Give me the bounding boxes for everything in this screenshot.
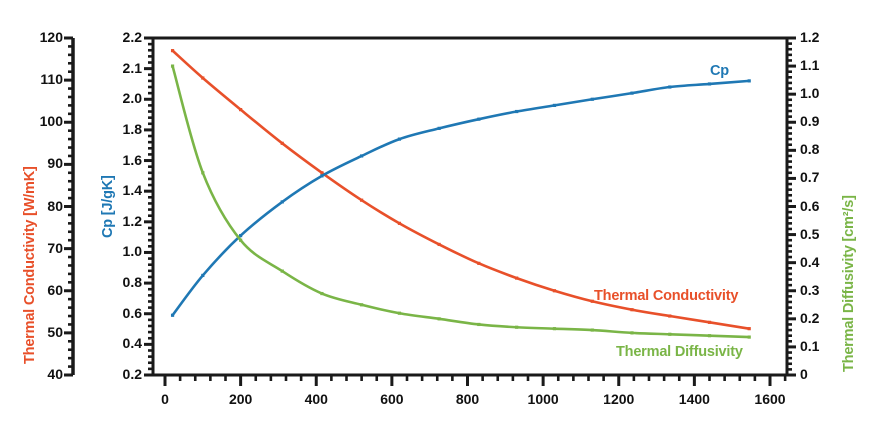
axis-tick-label: 50 — [7, 324, 63, 340]
axis-tick-label: 0.1 — [800, 338, 840, 354]
series-annotation-thermal-conductivity: Thermal Conductivity — [594, 288, 738, 304]
axis-tick-label: 400 — [286, 391, 346, 407]
axis-tick-label: 1.1 — [800, 57, 840, 73]
axis-tick-label: 80 — [7, 198, 63, 214]
axis-tick-label: 800 — [438, 391, 498, 407]
axis-tick-label: 1.0 — [86, 243, 142, 259]
axis-tick-label: 1000 — [513, 391, 573, 407]
axis-tick-label: 0.2 — [86, 366, 142, 382]
axis-tick-label: 0.7 — [800, 169, 840, 185]
axis-tick-label: 0.5 — [800, 226, 840, 242]
axis-tick-label: 0.8 — [86, 274, 142, 290]
axis-tick-label: 40 — [7, 366, 63, 382]
axis-tick-label: 0 — [800, 366, 840, 382]
axis-tick-label: 1600 — [740, 391, 800, 407]
axis-tick-label: 1200 — [589, 391, 649, 407]
axis-tick-label: 0.4 — [86, 335, 142, 351]
axis-tick-label: 110 — [7, 71, 63, 87]
axis-tick-label: 0.8 — [800, 141, 840, 157]
series-cp — [171, 79, 751, 317]
series-annotation-thermal-diffusivity: Thermal Diffusivity — [616, 344, 743, 360]
axis-tick-label: 1.0 — [800, 85, 840, 101]
axis-tick-label: 0.6 — [800, 198, 840, 214]
axis-tick-label: 0.2 — [800, 310, 840, 326]
axis-tick-label: 1.2 — [86, 213, 142, 229]
axis-tick-label: 200 — [211, 391, 271, 407]
axis-tick-label: 0 — [135, 391, 195, 407]
axis-tick-label: 1.2 — [800, 29, 840, 45]
axis-tick-label: 100 — [7, 113, 63, 129]
axis-tick-label: 600 — [362, 391, 422, 407]
axis-tick-label: 1400 — [664, 391, 724, 407]
axis-tick-label: 2.0 — [86, 90, 142, 106]
axis-tick-label: 0.6 — [86, 305, 142, 321]
axis-tick-label: 1.8 — [86, 121, 142, 137]
axis-tick-label: 0.3 — [800, 282, 840, 298]
chart-figure: Thermal Conductivity [W/mK] Cp [J/gK] Th… — [0, 0, 891, 429]
series-annotation-cp: Cp — [710, 63, 729, 79]
axis-tick-label: 1.6 — [86, 152, 142, 168]
axis-tick-label: 2.2 — [86, 29, 142, 45]
axis-tick-label: 1.4 — [86, 182, 142, 198]
axis-tick-label: 90 — [7, 155, 63, 171]
axis-tick-label: 0.4 — [800, 254, 840, 270]
axis-tick-label: 0.9 — [800, 113, 840, 129]
axis-tick-label: 60 — [7, 282, 63, 298]
axis-tick-label: 120 — [7, 29, 63, 45]
axis-tick-label: 2.1 — [86, 60, 142, 76]
axis-tick-label: 70 — [7, 240, 63, 256]
